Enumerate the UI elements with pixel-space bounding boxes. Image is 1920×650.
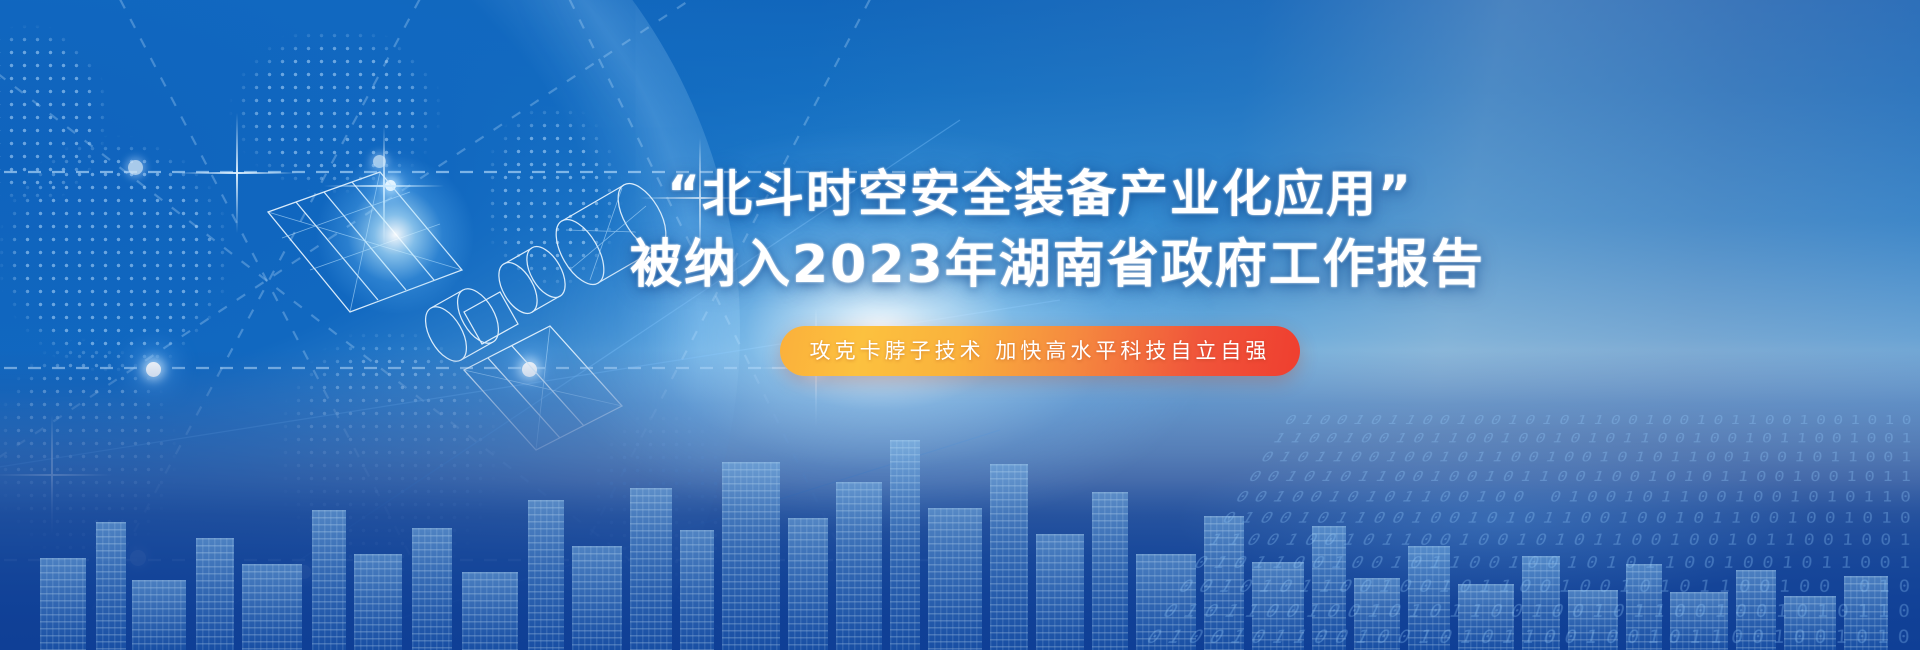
promo-banner: 0100101100100101011001001011001001010110… — [0, 0, 1920, 650]
city-skyline-icon: 0100101100100101011001001011001001010110… — [0, 350, 1920, 650]
building — [96, 522, 126, 650]
building — [890, 440, 920, 650]
building — [990, 464, 1028, 650]
banner-copy: “北斗时空安全装备产业化应用” 被纳入2023年湖南省政府工作报告 攻克卡脖子技… — [630, 160, 1450, 376]
building — [196, 538, 234, 650]
building — [528, 500, 564, 650]
building — [40, 558, 86, 650]
slogan-pill-button[interactable]: 攻克卡脖子技术 加快高水平科技自立自强 — [780, 326, 1301, 376]
building — [132, 580, 186, 650]
building — [312, 510, 346, 650]
building — [630, 488, 672, 650]
building — [572, 546, 622, 650]
building — [680, 530, 714, 650]
headline-line-1: “北斗时空安全装备产业化应用” — [630, 160, 1450, 228]
building — [836, 482, 882, 650]
building — [412, 528, 452, 650]
network-node — [128, 160, 143, 175]
headline-line-2: 被纳入2023年湖南省政府工作报告 — [630, 230, 1450, 300]
building — [242, 564, 302, 650]
building — [928, 508, 982, 650]
building — [722, 462, 780, 650]
building — [788, 518, 828, 650]
building — [462, 572, 518, 650]
building — [354, 554, 402, 650]
